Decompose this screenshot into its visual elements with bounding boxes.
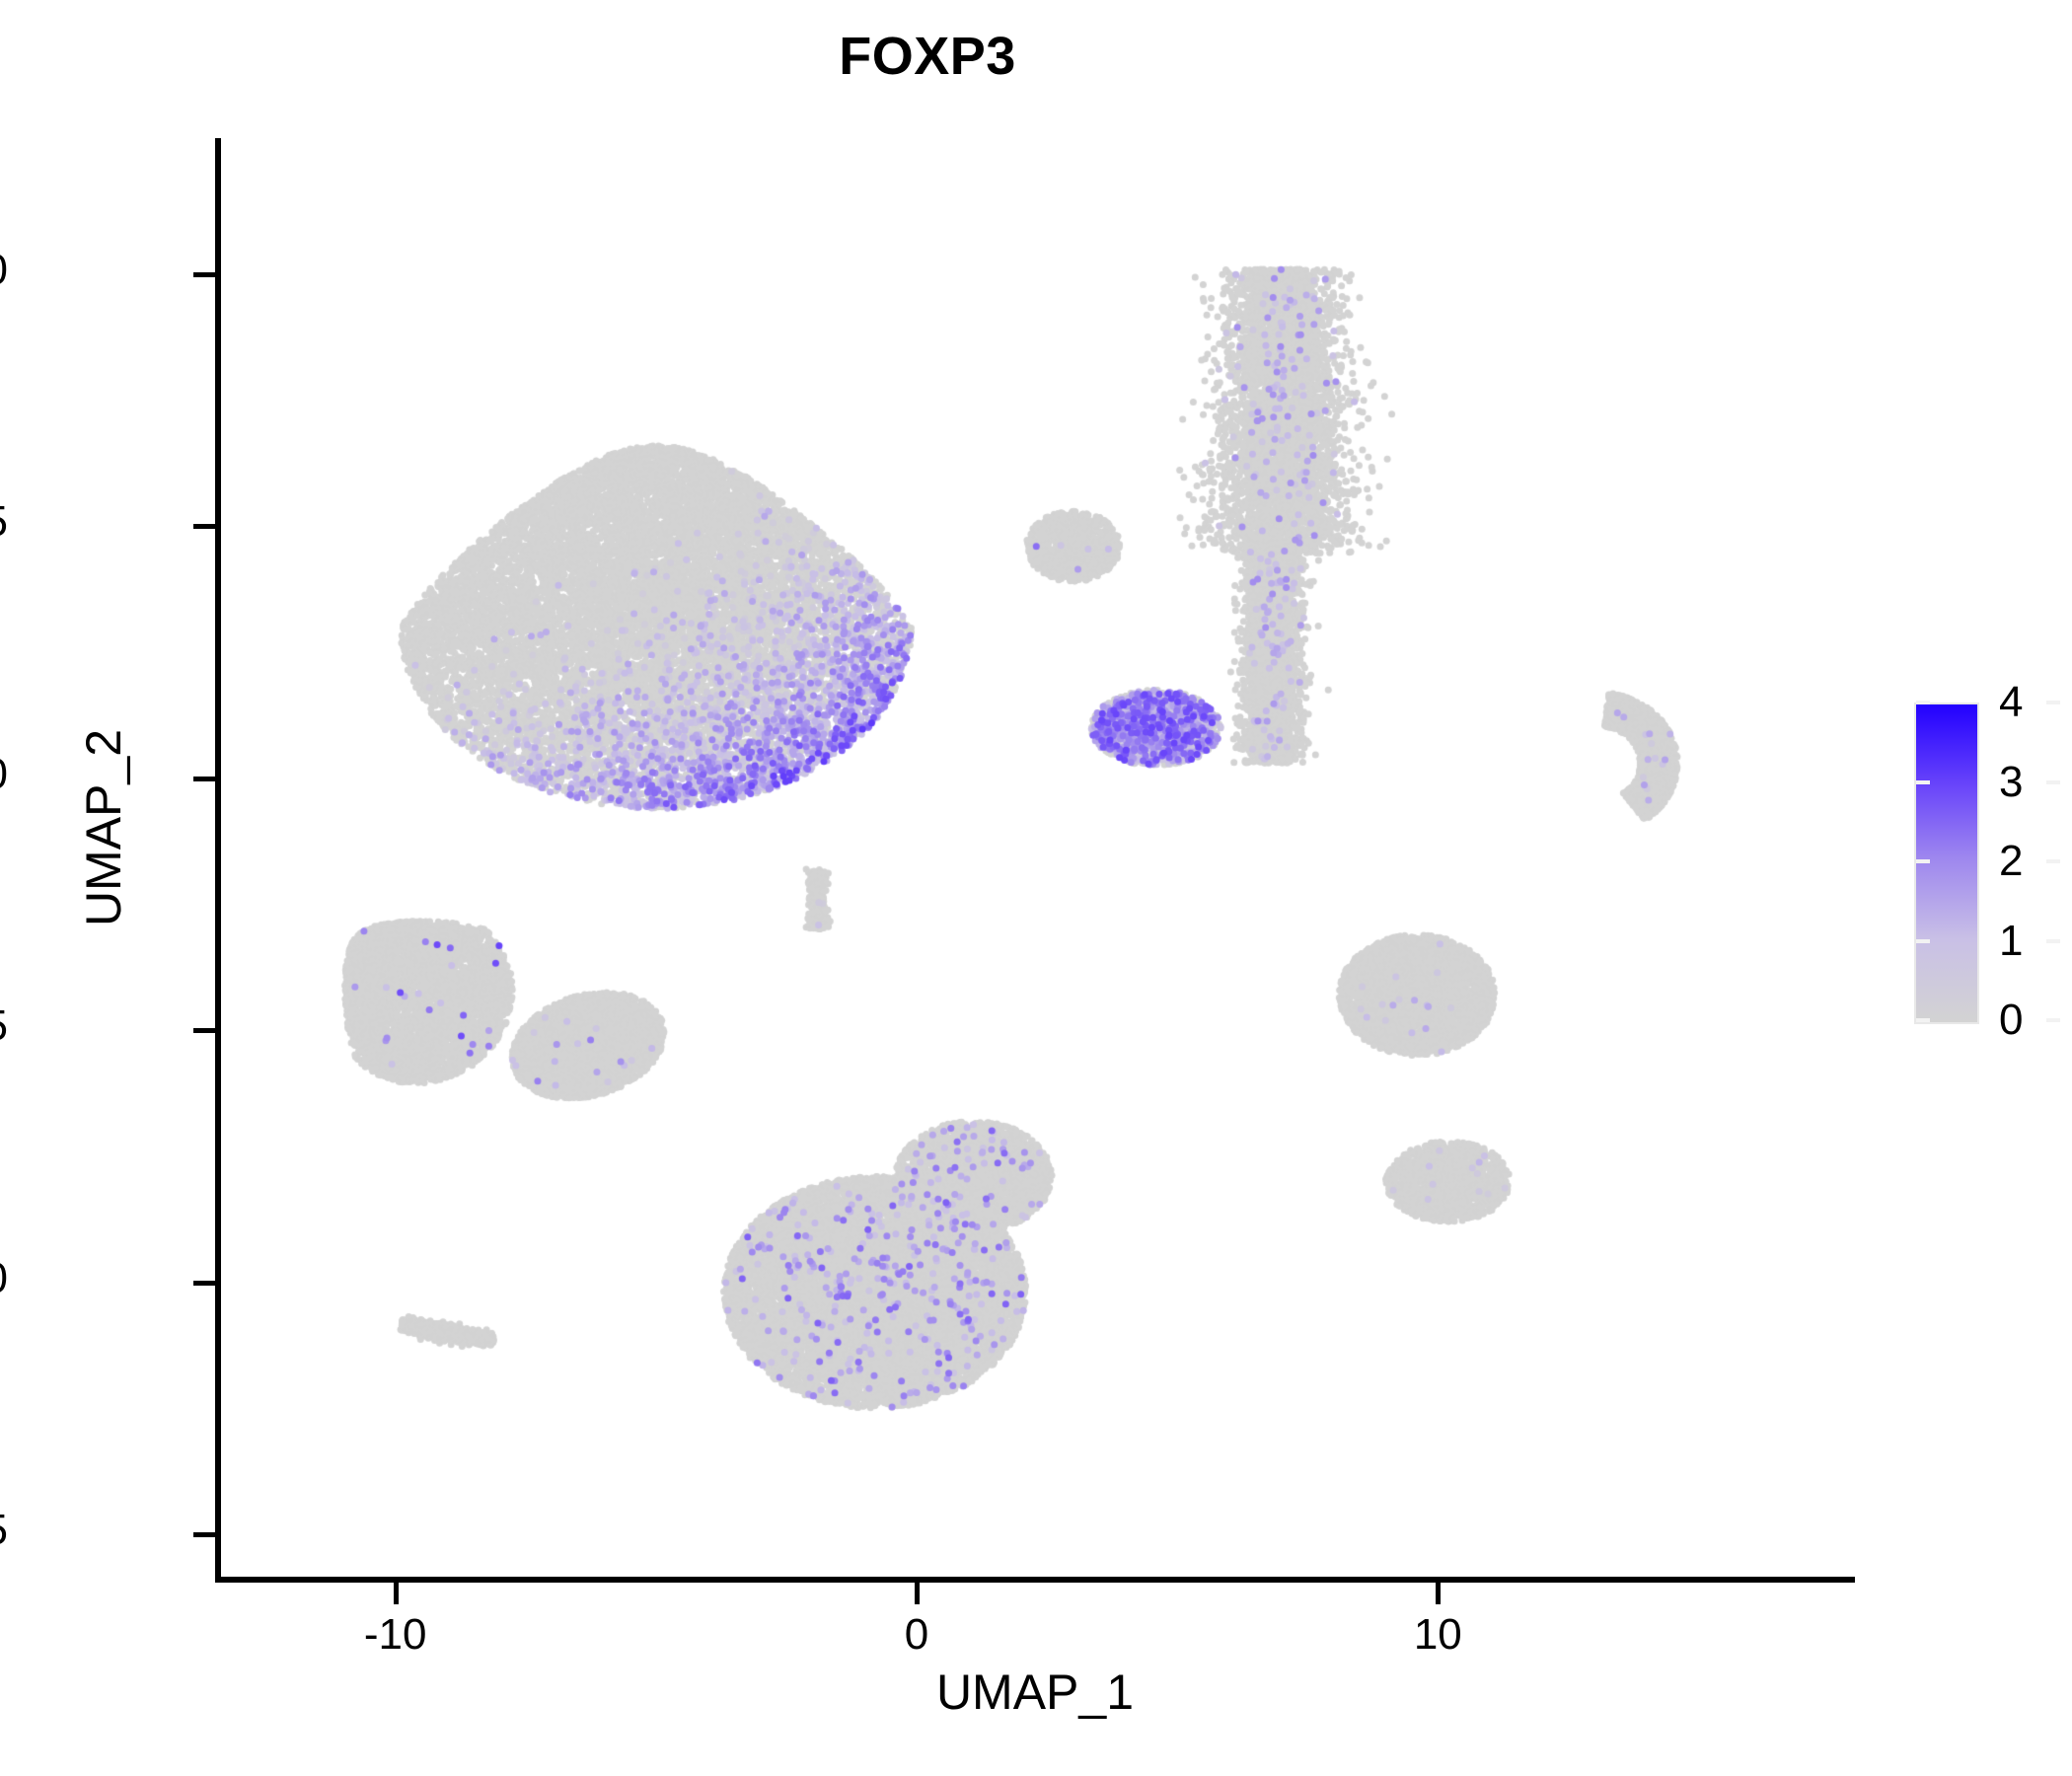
colorbar-tick-label: 0 <box>1999 999 2023 1042</box>
colorbar-tick-mark <box>1916 859 1930 863</box>
y-tick-mark <box>193 1532 217 1537</box>
x-tick-mark <box>915 1581 920 1604</box>
colorbar-tick-mark <box>1916 939 1930 943</box>
x-tick-label: 0 <box>818 1610 1015 1660</box>
colorbar-tick-mark <box>2046 701 2060 704</box>
colorbar-tick-mark <box>2046 780 2060 784</box>
colorbar-tick-mark <box>1916 1018 1930 1022</box>
y-tick-mark <box>193 524 217 529</box>
y-tick-label: -5 <box>0 1001 8 1051</box>
y-tick-label: 10 <box>0 246 8 295</box>
x-tick-label: -10 <box>297 1610 494 1660</box>
colorbar-tick-mark <box>2046 859 2060 863</box>
y-tick-label: -15 <box>0 1506 8 1555</box>
colorbar-tick-label: 2 <box>1999 840 2023 883</box>
colorbar-tick-mark <box>2046 1018 2060 1022</box>
y-tick-mark <box>193 777 217 781</box>
x-tick-mark <box>1436 1581 1441 1604</box>
y-tick-mark <box>193 272 217 277</box>
colorbar-tick-label: 4 <box>1999 681 2023 724</box>
y-tick-label: -10 <box>0 1254 8 1303</box>
y-tick-mark <box>193 1281 217 1286</box>
y-tick-label: 0 <box>0 750 8 799</box>
y-tick-mark <box>193 1028 217 1033</box>
colorbar-tick-label: 3 <box>1999 761 2023 804</box>
y-tick-label: 5 <box>0 497 8 547</box>
colorbar-legend: 01234 <box>1914 703 2062 1028</box>
x-axis-spine <box>215 1577 1855 1583</box>
colorbar-tick-mark <box>1916 780 1930 784</box>
y-axis-spine <box>215 138 221 1583</box>
scatter-canvas <box>0 0 2072 1776</box>
colorbar-tick-label: 1 <box>1999 920 2023 963</box>
umap-feature-plot: FOXP3 -15-10-50510-10010 UMAP_1 UMAP_2 0… <box>0 0 2072 1776</box>
colorbar-gradient <box>1914 703 1979 1024</box>
x-tick-label: 10 <box>1339 1610 1536 1660</box>
colorbar-tick-mark <box>2046 939 2060 943</box>
y-axis-label: UMAP_2 <box>75 482 132 1173</box>
x-axis-label: UMAP_1 <box>215 1664 1855 1721</box>
colorbar-tick-mark <box>1916 701 1930 704</box>
x-tick-mark <box>394 1581 399 1604</box>
